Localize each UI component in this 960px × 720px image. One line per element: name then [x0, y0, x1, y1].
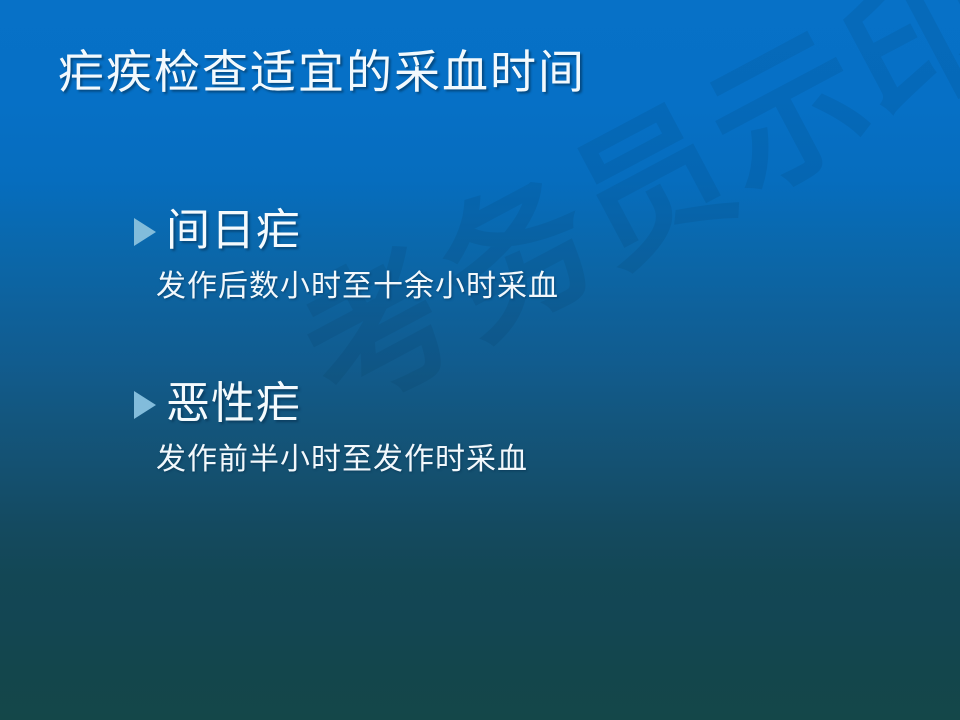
bullet-heading: 恶性疟 [166, 379, 301, 428]
bullet-heading-row: 恶性疟 [134, 379, 528, 428]
bullet-subtext: 发作前半小时至发作时采血 [156, 442, 528, 478]
presentation-slide: 考务员示印 疟疾检查适宜的采血时间 间日疟 发作后数小时至十余小时采血 恶性疟 … [0, 0, 960, 720]
triangle-right-icon [134, 391, 156, 419]
bullet-subtext: 发作后数小时至十余小时采血 [156, 269, 559, 305]
bullet-item: 间日疟 发作后数小时至十余小时采血 [134, 206, 559, 305]
triangle-right-icon [134, 218, 156, 246]
bullet-heading-row: 间日疟 [134, 206, 559, 255]
bullet-item: 恶性疟 发作前半小时至发作时采血 [134, 379, 528, 478]
slide-body: 间日疟 发作后数小时至十余小时采血 恶性疟 发作前半小时至发作时采血 [0, 0, 960, 720]
bullet-heading: 间日疟 [166, 206, 301, 255]
